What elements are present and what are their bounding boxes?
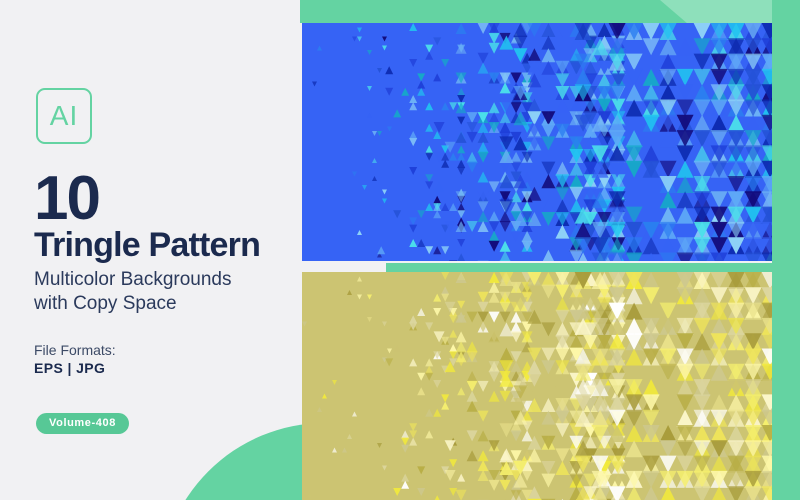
pack-count: 10: [34, 168, 99, 230]
ai-format-badge: AI: [36, 88, 92, 144]
file-formats-label: File Formats:: [34, 342, 116, 358]
green-right-strip-decoration: [772, 0, 800, 500]
poster-canvas: AI 10 Tringle Pattern Multicolor Backgro…: [0, 0, 800, 500]
page-title: Tringle Pattern: [34, 228, 260, 264]
blue-triangle-mosaic: [302, 23, 772, 261]
preview-blue-triangle-pattern[interactable]: [302, 23, 772, 261]
file-formats-value: EPS | JPG: [34, 360, 105, 376]
green-middle-band-decoration: [386, 263, 800, 272]
page-subtitle-line-1: Multicolor Backgrounds: [34, 268, 231, 292]
volume-badge: Volume-408: [36, 413, 129, 434]
page-subtitle: Multicolor Backgrounds with Copy Space: [34, 268, 231, 316]
yellow-triangle-mosaic: [302, 272, 772, 500]
ai-badge-label: AI: [50, 102, 78, 130]
preview-yellow-triangle-pattern[interactable]: [302, 272, 772, 500]
page-subtitle-line-2: with Copy Space: [34, 292, 231, 316]
